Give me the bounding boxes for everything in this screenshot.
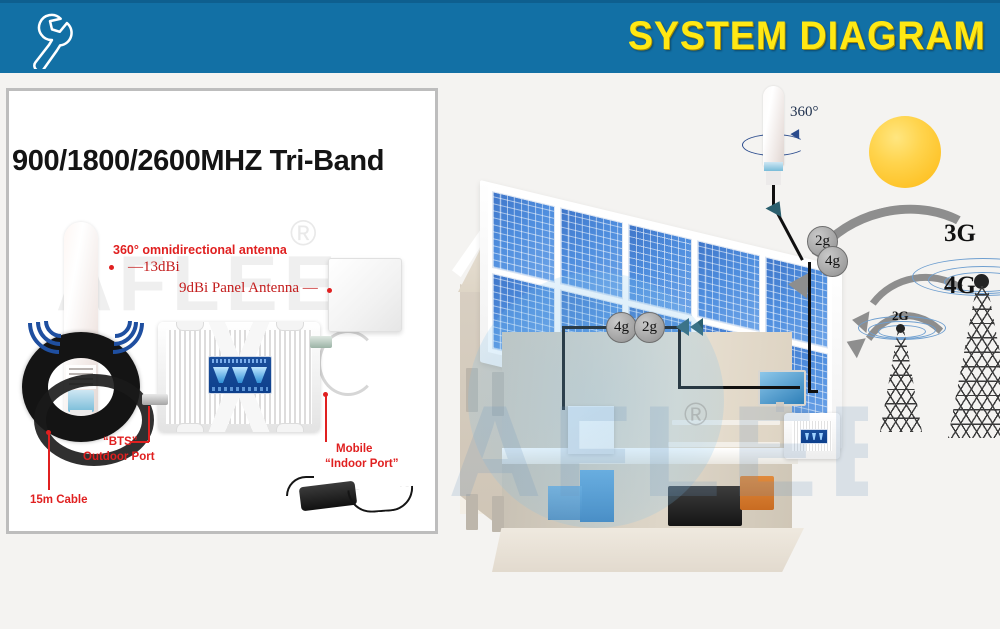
page-header: SYSTEM DIAGRAM [0, 0, 1000, 73]
ground-floor-base [492, 528, 804, 572]
mount-tab [176, 423, 204, 432]
callout-omni-antenna: 360° omnidirectional antenna [113, 243, 287, 257]
outdoor-antenna-cable [808, 262, 811, 392]
label-3g: 3G [944, 220, 976, 248]
furniture-cabinet [580, 470, 614, 522]
callout-dot [323, 392, 328, 397]
lcd-title-row [212, 359, 268, 363]
furniture-box [740, 476, 774, 510]
registered-mark-left: ® [290, 212, 317, 254]
lcd-signal-bars [213, 367, 267, 383]
upper-room [502, 332, 792, 454]
callout-leader [148, 406, 150, 442]
label-tower-2g: 2G [892, 308, 909, 324]
signal-waves-left [22, 296, 64, 346]
mount-tab [276, 322, 304, 331]
solar-panel [697, 240, 760, 332]
solar-panel [492, 191, 555, 283]
signal-booster-device [158, 322, 320, 432]
page-title: SYSTEM DIAGRAM [628, 14, 986, 59]
bts-connector [142, 394, 168, 405]
shelf [668, 442, 780, 447]
panel-antenna-left [328, 258, 402, 332]
callout-dot [327, 288, 332, 293]
indoor-cable-run [678, 386, 800, 389]
product-title: 900/1800/2600MHZ Tri-Band [12, 145, 384, 178]
panel-antenna-connector [310, 336, 332, 348]
mount-tab [176, 322, 204, 331]
floor-slab [502, 448, 798, 464]
installation-scene: AFLEE ® 2g 4g 4g 2g [440, 76, 1000, 629]
window [466, 494, 478, 530]
window [492, 496, 504, 532]
outdoor-antenna-cable [808, 390, 818, 393]
system-diagram-page: SYSTEM DIAGRAM 900/1800/2600MHZ Tri-Band… [0, 0, 1000, 629]
rotation-degree-label: 360° [790, 104, 819, 121]
roof-omni-antenna [763, 86, 784, 166]
callout-panel-antenna: 9dBi Panel Antenna — [179, 280, 318, 297]
roof-antenna-base [764, 162, 783, 171]
cell-tower-2g [874, 324, 930, 434]
indoor-panel-antenna [568, 406, 614, 454]
wrench-icon [22, 11, 80, 69]
callout-bts-line1: “BTS” [103, 436, 138, 448]
callout-mobile-line1: Mobile [336, 443, 372, 455]
callout-dot [109, 265, 114, 270]
booster-lcd-display [208, 356, 272, 394]
badge-roof-4g: 4g [817, 246, 848, 277]
window [466, 368, 478, 412]
roof-antenna-mount [766, 171, 781, 185]
indoor-booster-lcd [800, 429, 828, 444]
solar-panel [628, 224, 691, 316]
window [492, 372, 504, 416]
callout-leader [325, 394, 327, 442]
callout-omni-gain: —13dBi [128, 259, 180, 276]
signal-waves-right [104, 296, 146, 346]
registered-mark-scene: ® [684, 396, 708, 433]
callout-dot [46, 430, 51, 435]
badge-indoor-4g: 4g [606, 312, 637, 343]
label-4g: 4G [944, 272, 976, 300]
signal-direction-arrow [690, 318, 703, 336]
indoor-signal-booster [784, 413, 840, 459]
furniture-sofa [668, 486, 742, 526]
mount-tab [276, 423, 304, 432]
callout-cable-length: 15m Cable [30, 494, 88, 506]
lcd-band-row [212, 387, 268, 391]
signal-direction-arrow [766, 197, 788, 217]
solar-panel [560, 207, 623, 299]
tv-stand [776, 402, 784, 412]
signal-direction-arrow [676, 318, 689, 336]
furniture-cabinet [548, 486, 582, 520]
indoor-antenna-cable [562, 326, 565, 410]
callout-leader [48, 432, 50, 490]
callout-mobile-line2: “Indoor Port” [325, 458, 398, 470]
callout-bts-line2: Outdoor Port [83, 451, 155, 463]
badge-indoor-2g: 2g [634, 312, 665, 343]
